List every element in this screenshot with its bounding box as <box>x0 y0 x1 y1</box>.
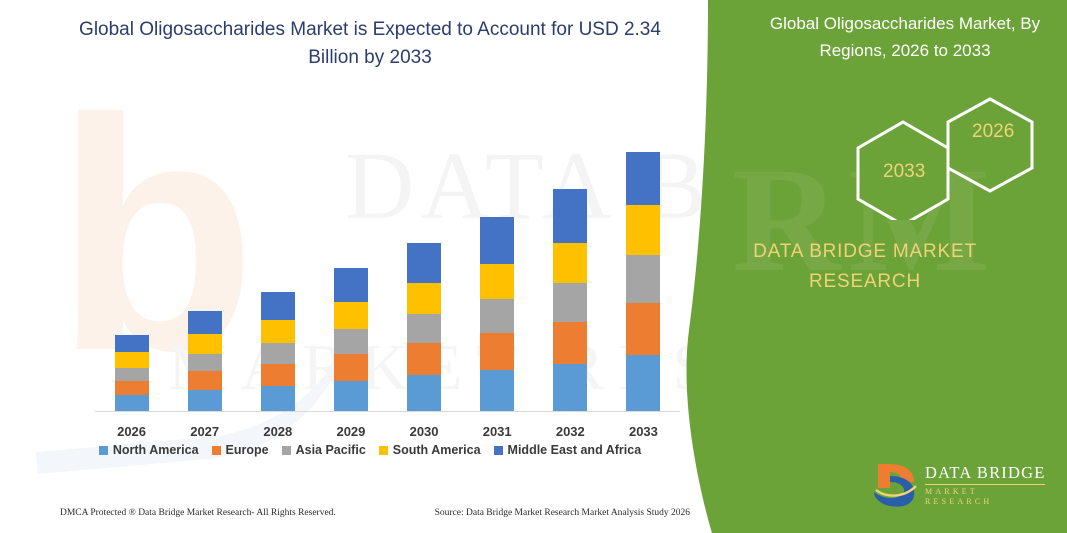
bar-column <box>553 189 587 411</box>
legend-swatch-icon <box>212 446 221 455</box>
bar-segment <box>480 370 514 411</box>
bar-segment <box>553 243 587 283</box>
bar-segment <box>115 368 149 381</box>
bar-column <box>480 217 514 411</box>
legend-swatch-icon <box>282 446 291 455</box>
bar-segment <box>480 333 514 370</box>
panel-title: Global Oligosaccharides Market, By Regio… <box>750 10 1060 64</box>
bar-segment <box>188 390 222 411</box>
bar-segment <box>115 352 149 368</box>
legend-item[interactable]: South America <box>379 443 481 457</box>
x-axis-label: 2026 <box>102 424 162 444</box>
bar-segment <box>553 189 587 243</box>
bar-segment <box>480 264 514 299</box>
legend-label: South America <box>393 443 481 457</box>
bar-segment <box>407 375 441 411</box>
bar-column <box>115 335 149 411</box>
bar-segment <box>261 386 295 411</box>
bar-segment <box>334 381 368 411</box>
hexagon-group: 2026 2033 <box>835 95 1065 220</box>
bar-segment <box>261 292 295 320</box>
bar-segment <box>188 354 222 371</box>
bar-segment <box>115 395 149 411</box>
chart-plot-area <box>95 100 680 412</box>
x-axis-label: 2032 <box>540 424 600 444</box>
bar-segment <box>480 217 514 264</box>
bar-segment <box>334 329 368 354</box>
bar-segment <box>553 322 587 364</box>
bar-group <box>95 100 680 411</box>
legend-label: North America <box>113 443 199 457</box>
x-axis-label: 2030 <box>394 424 454 444</box>
hexagon-2026-label: 2026 <box>972 121 1014 143</box>
bar-segment <box>261 320 295 343</box>
logo-title: DATA BRIDGE <box>925 464 1050 482</box>
hexagon-2033-label: 2033 <box>883 161 925 183</box>
bar-segment <box>480 299 514 333</box>
bar-column <box>261 292 295 411</box>
x-axis-line <box>95 411 680 412</box>
x-axis-labels: 20262027202820292030203120322033 <box>95 424 680 444</box>
legend-label: Europe <box>226 443 269 457</box>
x-axis-label: 2031 <box>467 424 527 444</box>
bar-segment <box>261 364 295 386</box>
bar-segment <box>334 354 368 381</box>
bar-segment <box>407 243 441 283</box>
bar-column <box>407 243 441 411</box>
legend-swatch-icon <box>379 446 388 455</box>
side-panel: RM Global Oligosaccharides Market, By Re… <box>655 0 1067 533</box>
legend-swatch-icon <box>494 446 503 455</box>
footer: DMCA Protected ® Data Bridge Market Rese… <box>60 508 690 518</box>
hexagon-shapes <box>835 95 1065 220</box>
company-logo: DATA BRIDGE MARKET RESEARCH <box>870 458 1050 510</box>
bar-segment <box>334 302 368 329</box>
logo-tagline: MARKET RESEARCH <box>925 487 1050 507</box>
legend-item[interactable]: Middle East and Africa <box>494 443 642 457</box>
bar-column <box>188 311 222 411</box>
logo-mark-icon <box>870 458 922 510</box>
bar-column <box>334 268 368 411</box>
legend-item[interactable]: North America <box>99 443 199 457</box>
footer-copyright: DMCA Protected ® Data Bridge Market Rese… <box>60 508 336 518</box>
infographic-slide: b DATA BRIDGE MARKET RESEARCH Global Oli… <box>0 0 1067 533</box>
x-axis-label: 2028 <box>248 424 308 444</box>
bar-segment <box>115 381 149 395</box>
chart-title: Global Oligosaccharides Market is Expect… <box>60 16 680 72</box>
panel-brand-line2: RESEARCH <box>690 267 1040 297</box>
hexagon-2026 <box>948 99 1032 191</box>
footer-source: Source: Data Bridge Market Research Mark… <box>435 508 690 518</box>
bar-segment <box>407 283 441 314</box>
legend-label: Middle East and Africa <box>508 443 642 457</box>
logo-divider <box>925 484 1045 485</box>
bar-segment <box>334 268 368 302</box>
x-axis-label: 2027 <box>175 424 235 444</box>
panel-brand: DATA BRIDGE MARKET RESEARCH <box>690 237 1040 297</box>
bar-segment <box>188 311 222 334</box>
bar-segment <box>553 283 587 322</box>
bar-segment <box>115 335 149 352</box>
bar-segment <box>553 364 587 411</box>
bar-segment <box>407 314 441 343</box>
legend-label: Asia Pacific <box>296 443 366 457</box>
bar-segment <box>188 371 222 390</box>
panel-content: RM Global Oligosaccharides Market, By Re… <box>655 0 1067 533</box>
legend-item[interactable]: Europe <box>212 443 269 457</box>
legend-swatch-icon <box>99 446 108 455</box>
chart-legend: North AmericaEuropeAsia PacificSouth Ame… <box>60 443 680 457</box>
bar-segment <box>261 343 295 364</box>
panel-brand-line1: DATA BRIDGE MARKET <box>690 237 1040 267</box>
x-axis-label: 2029 <box>321 424 381 444</box>
bar-segment <box>188 334 222 354</box>
bar-segment <box>407 343 441 375</box>
legend-item[interactable]: Asia Pacific <box>282 443 366 457</box>
logo-text: DATA BRIDGE MARKET RESEARCH <box>925 464 1050 507</box>
